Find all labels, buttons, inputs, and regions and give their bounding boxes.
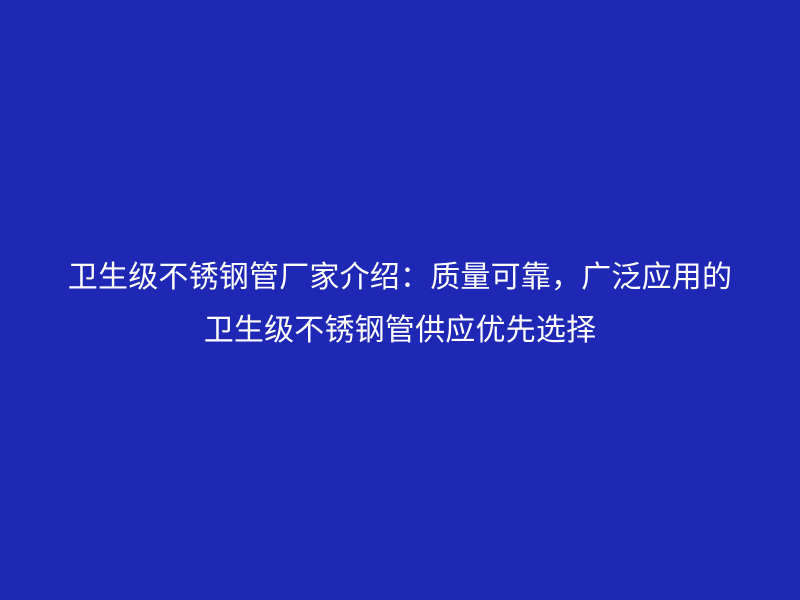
headline-line-2: 卫生级不锈钢管供应优先选择 [30, 304, 770, 357]
headline-block: 卫生级不锈钢管厂家介绍：质量可靠，广泛应用的 卫生级不锈钢管供应优先选择 [0, 251, 800, 357]
headline-line-1: 卫生级不锈钢管厂家介绍：质量可靠，广泛应用的 [30, 251, 770, 304]
banner-canvas: 卫生级不锈钢管厂家介绍：质量可靠，广泛应用的 卫生级不锈钢管供应优先选择 [0, 0, 800, 600]
